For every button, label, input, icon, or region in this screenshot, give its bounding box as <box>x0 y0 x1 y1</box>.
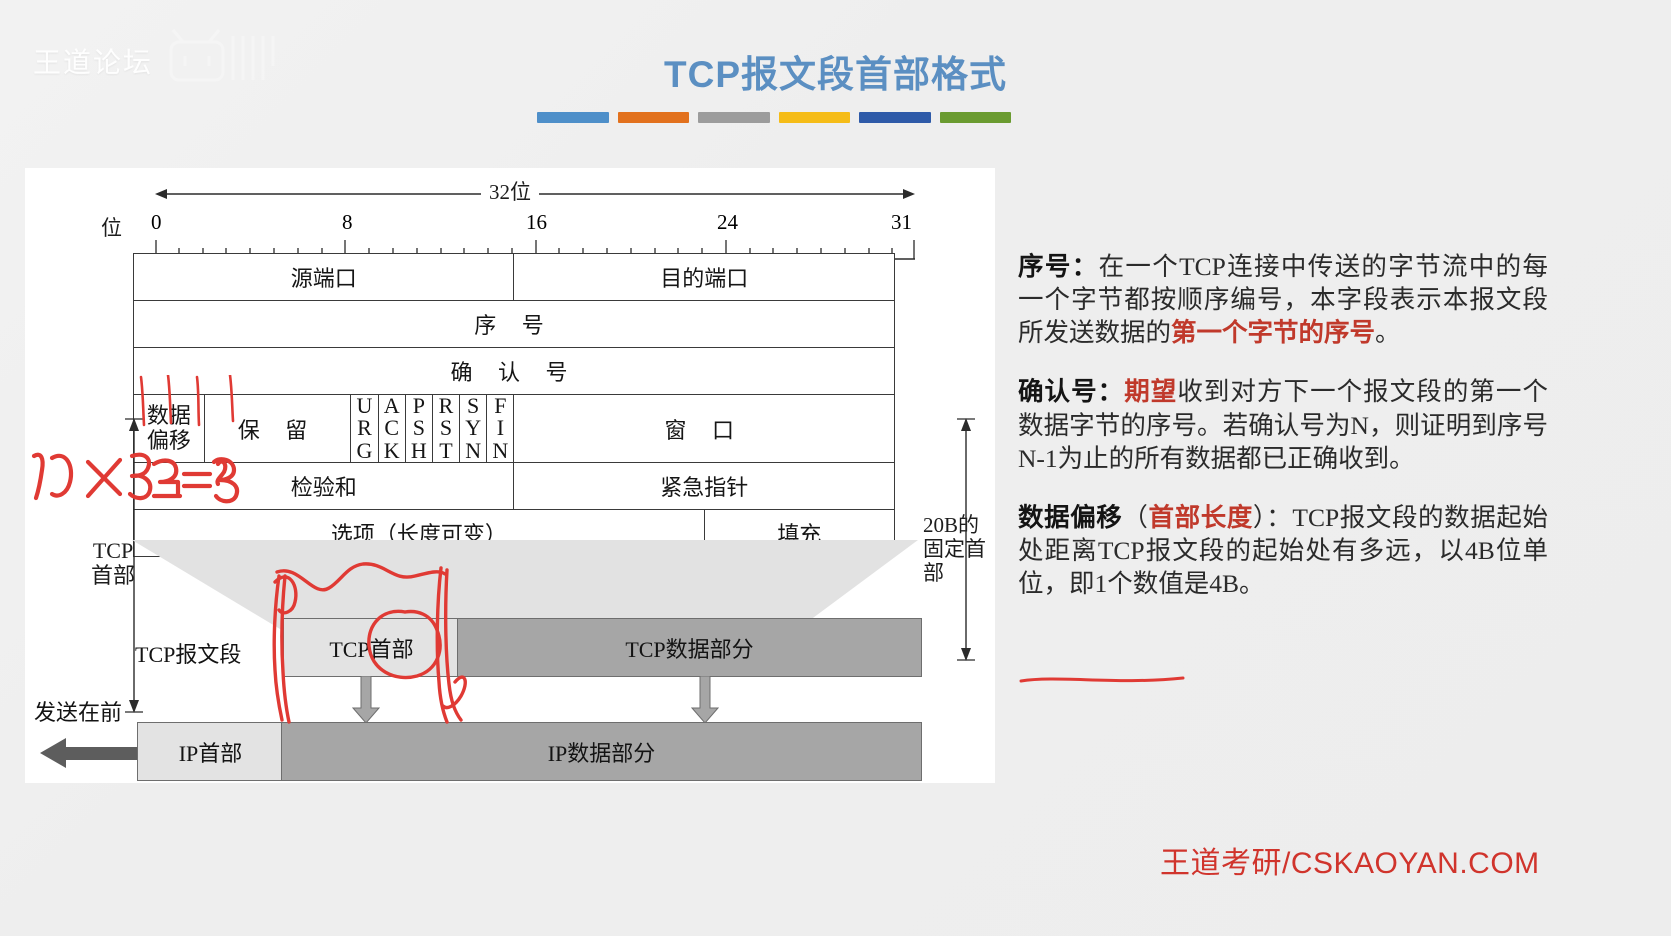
field-ack-number: 确 认 号 <box>134 348 895 395</box>
offset-paren-open: （ <box>1122 503 1148 532</box>
flag-fin: FIN <box>487 395 514 463</box>
field-source-port: 源端口 <box>134 254 514 301</box>
flag-psh: PSH <box>405 395 432 463</box>
tcp-header-block-label: TCP首部 <box>284 632 459 664</box>
tcp-data-block: TCP数据部分 <box>457 618 922 677</box>
explanation-seq: 序号：在一个TCP连接中传送的字节流中的每一个字节都按顺序编号，本字段表示本报文… <box>1018 250 1548 349</box>
table-row-ack: 确 认 号 <box>134 348 895 395</box>
flag-syn: SYN <box>460 395 487 463</box>
down-arrow-icon-2 <box>691 676 719 724</box>
tick-number-row: 0 8 16 24 31 <box>133 210 923 238</box>
explanation-panel: 序号：在一个TCP连接中传送的字节流中的每一个字节都按顺序编号，本字段表示本报文… <box>1018 250 1548 626</box>
accent-bar-yellow <box>779 112 851 123</box>
term-ack: 确认号 <box>1018 377 1098 406</box>
explanation-offset: 数据偏移（首部长度）：TCP报文段的数据起始处距离TCP报文段的起始处有多远，以… <box>1018 501 1548 600</box>
table-row-seq: 序 号 <box>134 301 895 348</box>
left-arrow-icon <box>40 736 138 770</box>
field-window: 窗 口 <box>514 395 895 463</box>
term-ack-colon: ： <box>1098 377 1125 406</box>
bit-axis-label: 位 <box>101 212 122 242</box>
explanation-seq-highlight: 第一个字节的序号 <box>1171 318 1375 347</box>
explanation-offset-highlight: 首部长度 <box>1149 503 1253 532</box>
tick-number-8: 8 <box>342 210 353 235</box>
field-urgent-pointer: 紧急指针 <box>514 463 895 510</box>
accent-bar-group <box>537 112 1011 123</box>
accent-bar-blue <box>537 112 609 123</box>
tcp-header-block: TCP首部 <box>283 618 460 677</box>
width-label: 32位 <box>25 176 995 206</box>
ip-header-block: IP首部 <box>137 722 284 781</box>
tick-number-24: 24 <box>717 210 738 235</box>
field-checksum: 检验和 <box>134 463 514 510</box>
table-row-ports: 源端口 目的端口 <box>134 254 895 301</box>
explanation-seq-body2: 。 <box>1375 318 1401 347</box>
flag-ack: ACK <box>378 395 405 463</box>
data-offset-line2: 偏移 <box>147 428 191 453</box>
tick-number-31: 31 <box>891 210 912 235</box>
term-offset-colon: ： <box>1266 503 1292 532</box>
explanation-ack-highlight: 期望 <box>1124 377 1177 406</box>
offset-paren-close: ） <box>1253 503 1266 532</box>
tcp-segment-label: TCP报文段 <box>135 637 241 669</box>
ip-data-block-label: IP数据部分 <box>282 736 921 768</box>
ip-header-block-label: IP首部 <box>138 736 283 768</box>
table-row-checksum: 检验和 紧急指针 <box>134 463 895 510</box>
field-seq-number: 序 号 <box>134 301 895 348</box>
tick-number-0: 0 <box>151 210 162 235</box>
term-seq: 序号 <box>1018 252 1072 281</box>
page-title: TCP报文段首部格式 <box>0 44 1671 98</box>
accent-bar-navy <box>859 112 931 123</box>
data-offset-line1: 数据 <box>147 403 191 428</box>
flag-urg: URG <box>351 395 378 463</box>
explanation-ack: 确认号：期望收到对方下一个报文段的第一个数据字节的序号。若确认号为N，则证明到序… <box>1018 375 1548 474</box>
encapsulation-diagram: TCP报文段 TCP首部 TCP数据部分 发送在前 IP首部 IP数据部分 <box>25 600 995 800</box>
accent-bar-gray <box>698 112 770 123</box>
ip-data-block: IP数据部分 <box>281 722 922 781</box>
accent-bar-green <box>940 112 1012 123</box>
flag-rst: RST <box>432 395 459 463</box>
accent-bar-orange <box>618 112 690 123</box>
tcp-data-block-label: TCP数据部分 <box>458 632 921 664</box>
field-data-offset: 数据 偏移 <box>134 395 205 463</box>
term-seq-colon: ： <box>1072 252 1099 281</box>
term-offset: 数据偏移 <box>1018 503 1122 532</box>
ink-underline-annotation <box>1018 672 1186 688</box>
tcp-header-table: 源端口 目的端口 序 号 确 认 号 数据 偏移 保 留 URG ACK PSH… <box>133 253 895 557</box>
down-arrow-icon-1 <box>352 676 380 724</box>
field-dest-port: 目的端口 <box>514 254 895 301</box>
tick-number-16: 16 <box>526 210 547 235</box>
footer-brand: 王道考研/CSKAOYAN.COM <box>1160 838 1540 882</box>
field-reserved: 保 留 <box>204 395 351 463</box>
send-first-label: 发送在前 <box>34 695 122 727</box>
table-row-flags: 数据 偏移 保 留 URG ACK PSH RST SYN FIN 窗 口 <box>134 395 895 463</box>
